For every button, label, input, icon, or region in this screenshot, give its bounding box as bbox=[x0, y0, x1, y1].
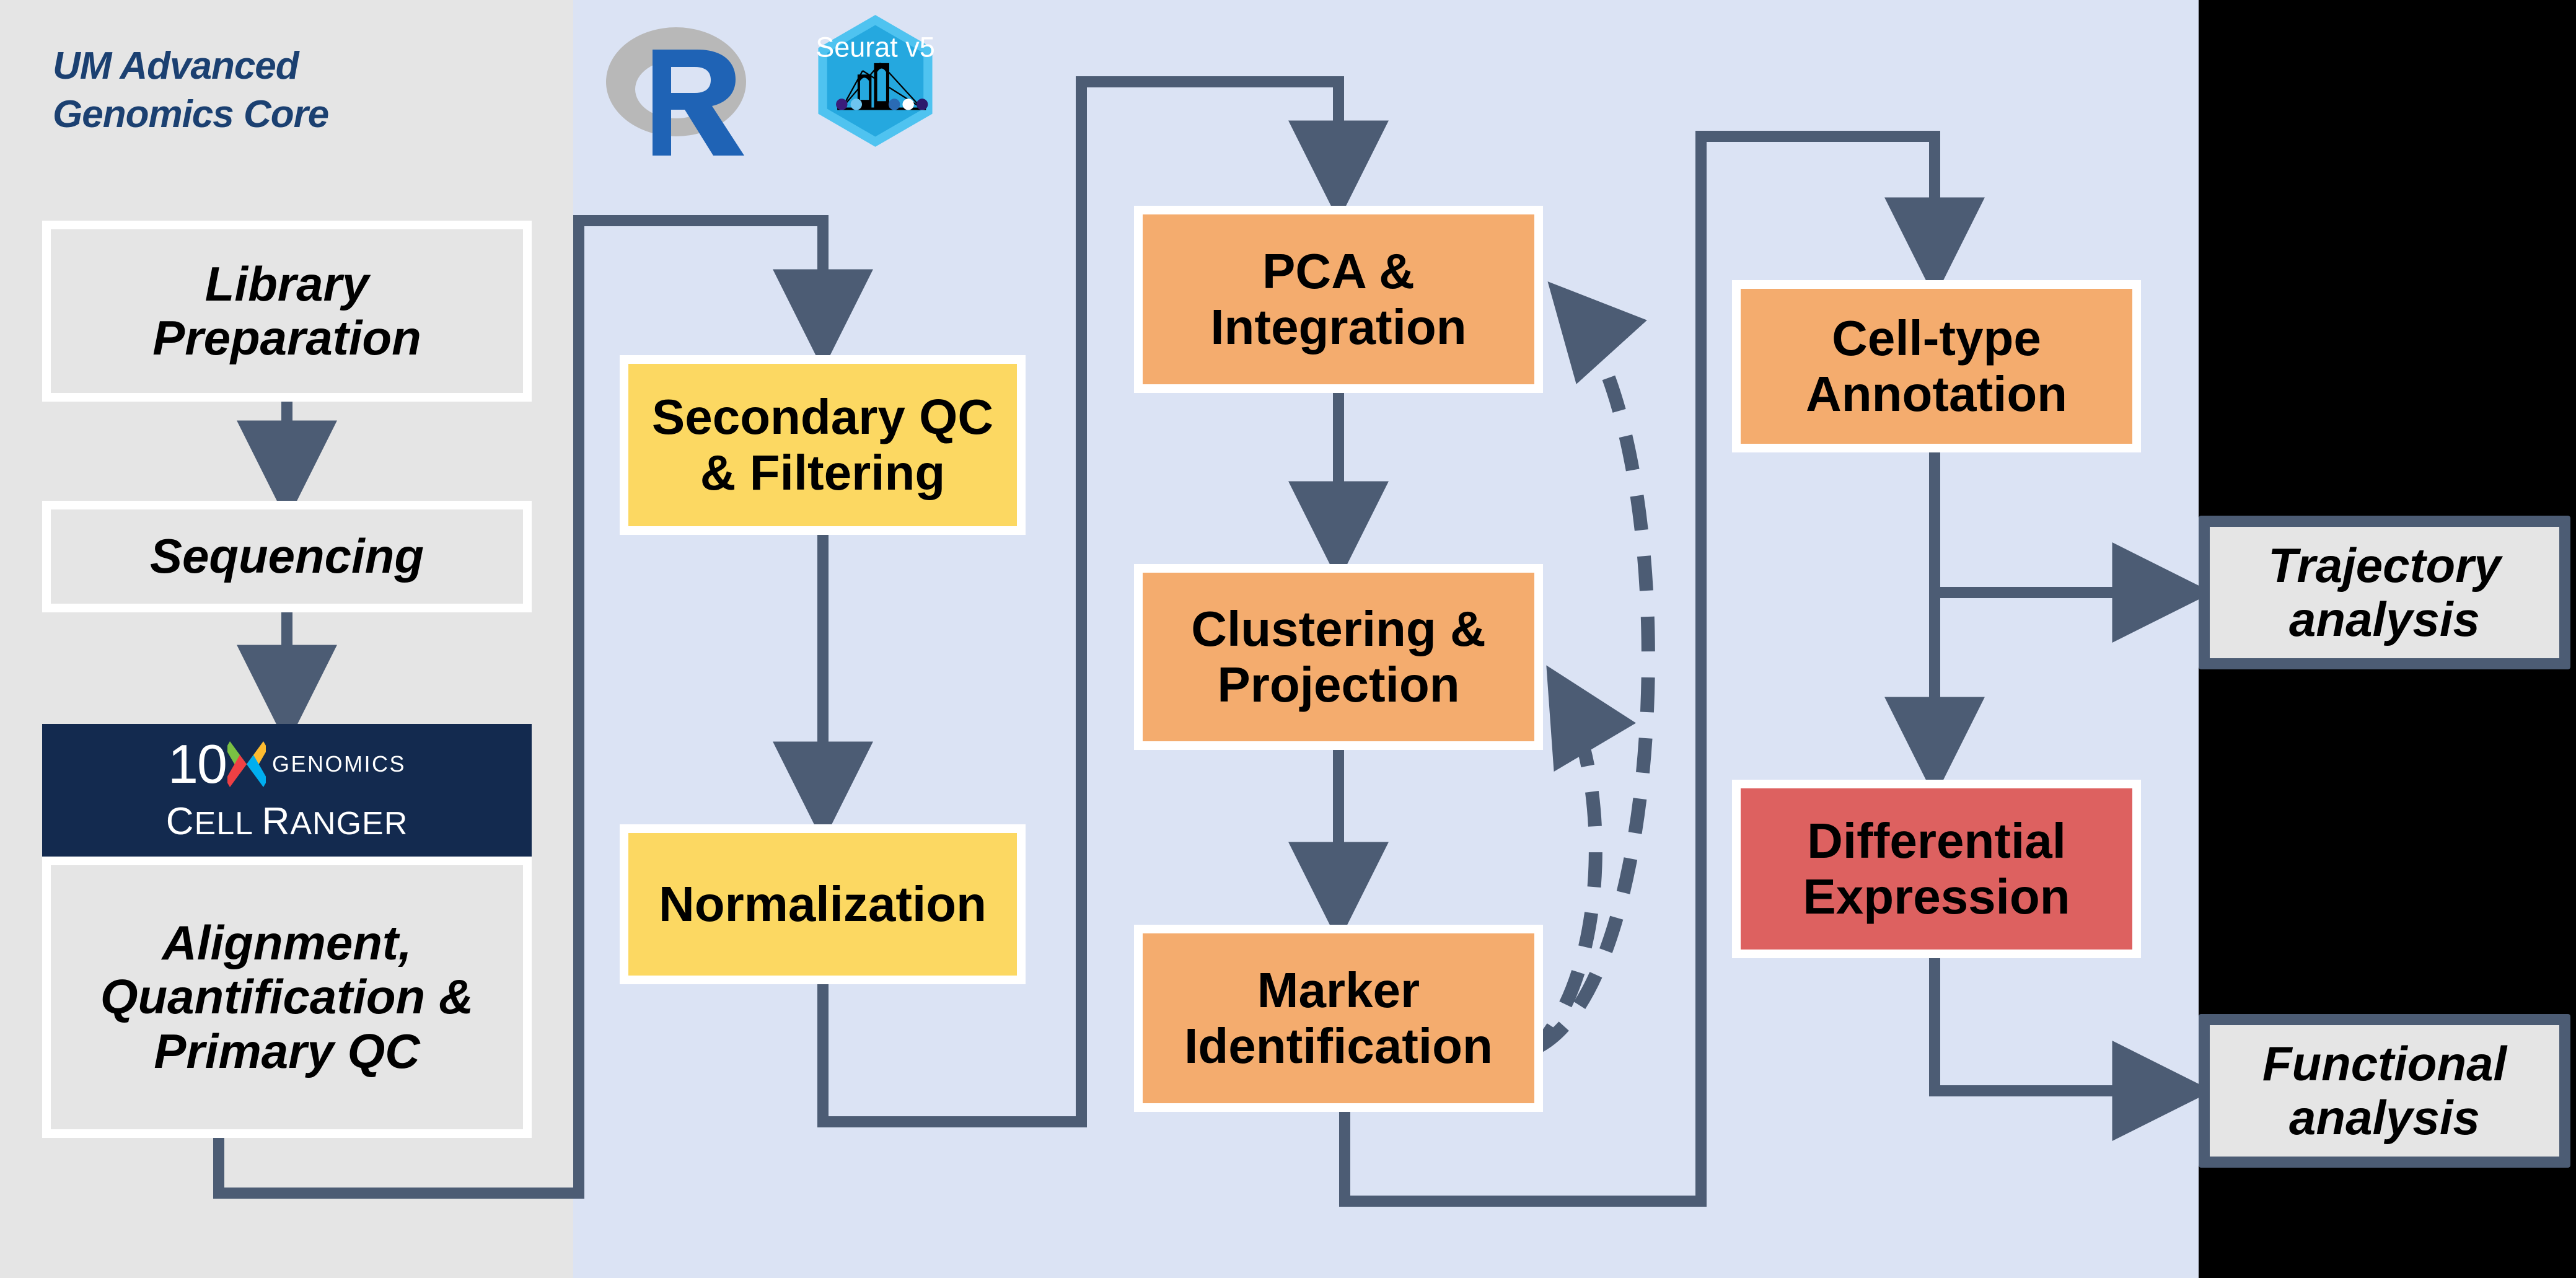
node-differential-expression[interactable]: Differential Expression bbox=[1732, 780, 2141, 958]
node-normalization[interactable]: Normalization bbox=[620, 824, 1026, 984]
node-label: Trajectory analysis bbox=[2268, 539, 2501, 647]
title-line-2: Genomics Core bbox=[53, 90, 328, 139]
node-label: Library Preparation bbox=[152, 257, 421, 366]
node-label: Secondary QC & Filtering bbox=[652, 389, 993, 500]
tenx-genomics-logo: 10 GENOMICS CELL RANGER bbox=[166, 724, 408, 857]
edge-differential-expression-to-functional bbox=[1935, 958, 2181, 1091]
node-functional-analysis[interactable]: Functional analysis bbox=[2199, 1014, 2570, 1168]
node-label: Marker Identification bbox=[1184, 963, 1493, 1073]
seurat-logo: Seurat v5 bbox=[806, 11, 945, 151]
page-title: UM Advanced Genomics Core bbox=[53, 42, 328, 138]
node-label: Normalization bbox=[659, 876, 987, 932]
edge-cell-type-to-trajectory bbox=[1935, 452, 2181, 593]
node-cell-type-annotation[interactable]: Cell-type Annotation bbox=[1732, 280, 2141, 452]
node-label: Sequencing bbox=[150, 529, 424, 583]
seurat-label: Seurat v5 bbox=[815, 32, 935, 63]
node-label: Differential Expression bbox=[1803, 813, 2070, 924]
node-label: Functional analysis bbox=[2262, 1037, 2507, 1145]
node-pca-integration[interactable]: PCA & Integration bbox=[1134, 206, 1543, 393]
node-clustering-projection[interactable]: Clustering & Projection bbox=[1134, 564, 1543, 750]
cell-ranger-wordmark: CELL RANGER bbox=[166, 800, 408, 843]
node-sequencing[interactable]: Sequencing bbox=[42, 501, 532, 612]
tenx-wordmark: GENOMICS bbox=[272, 752, 406, 777]
node-trajectory-analysis[interactable]: Trajectory analysis bbox=[2199, 516, 2570, 669]
node-secondary-qc-filtering[interactable]: Secondary QC & Filtering bbox=[620, 355, 1026, 535]
node-label: Alignment, Quantification & Primary QC bbox=[100, 916, 473, 1078]
tenx-logo-row: 10 GENOMICS bbox=[168, 737, 406, 791]
tenx-x-icon bbox=[227, 739, 266, 790]
node-label: Cell-type Annotation bbox=[1806, 311, 2067, 421]
node-alignment-quant-qc[interactable]: Alignment, Quantification & Primary QC bbox=[42, 857, 532, 1138]
title-line-1: UM Advanced bbox=[53, 42, 328, 90]
node-label: Clustering & Projection bbox=[1191, 601, 1486, 712]
node-marker-identification[interactable]: Marker Identification bbox=[1134, 925, 1543, 1112]
tenx-number: 10 bbox=[168, 737, 226, 791]
workflow-diagram: UM Advanced Genomics Core Seurat v5 Libr… bbox=[0, 0, 2576, 1278]
r-logo bbox=[604, 17, 759, 157]
node-label: PCA & Integration bbox=[1210, 244, 1466, 355]
node-cell-ranger[interactable]: 10 GENOMICS CELL RANGER bbox=[42, 724, 532, 857]
node-library-preparation[interactable]: Library Preparation bbox=[42, 221, 532, 402]
